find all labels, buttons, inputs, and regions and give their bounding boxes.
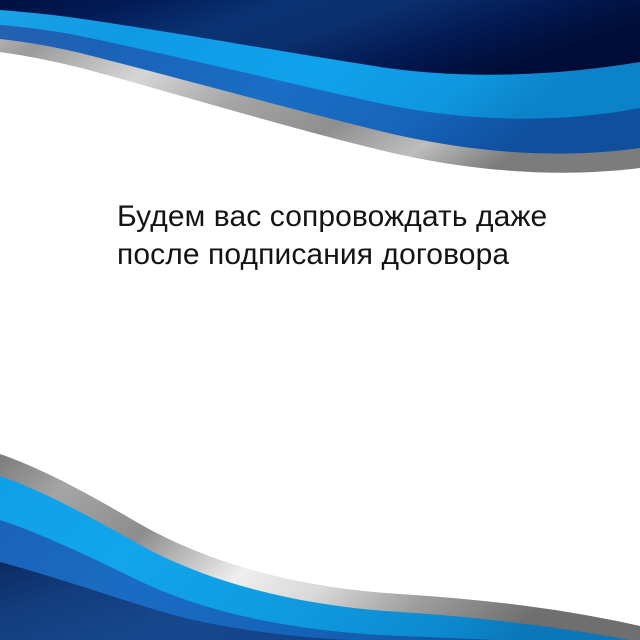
- headline-text: Будем вас сопровождать даже после подпис…: [117, 198, 557, 274]
- bottom-navy-band: [0, 562, 640, 640]
- top-navy-band: [0, 0, 640, 75]
- top-medium-blue-ribbon: [0, 0, 640, 154]
- bottom-wave-banner: [0, 410, 640, 640]
- bottom-light-blue-ribbon: [0, 476, 640, 640]
- top-light-blue-ribbon: [0, 0, 640, 119]
- slide-canvas: Будем вас сопровождать даже после подпис…: [0, 0, 640, 640]
- top-wave-banner: [0, 0, 640, 210]
- top-silver-ribbon: [0, 0, 640, 173]
- bottom-silver-ribbon: [0, 454, 640, 640]
- bottom-medium-blue-ribbon: [0, 520, 640, 640]
